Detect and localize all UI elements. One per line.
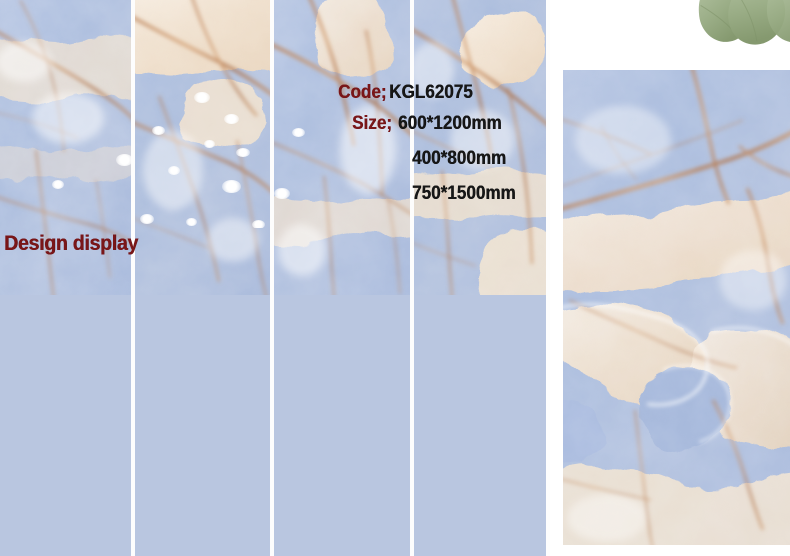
product-information-block: Code; KGL62075 Size; 600*1200mm 400*800m… <box>338 82 553 218</box>
panel-divider-1 <box>131 0 135 556</box>
product-row-size-3: 750*1500mm <box>412 183 553 205</box>
heading-design-display: Design display <box>4 232 138 256</box>
panel-divider-2 <box>270 0 274 556</box>
eucalyptus-leaves-decoration <box>680 0 790 58</box>
size-label: Size; <box>352 113 393 135</box>
size-value-1: 600*1200mm <box>398 113 502 135</box>
product-row-size: Size; 600*1200mm <box>352 113 553 135</box>
code-label: Code; <box>338 82 385 104</box>
right-tile-texture <box>563 70 790 545</box>
product-info-page: Real shooting effect Product information… <box>0 0 790 556</box>
size-value-3: 750*1500mm <box>412 183 516 205</box>
design-panel-1 <box>0 0 133 556</box>
code-value: KGL62075 <box>389 82 473 104</box>
design-panel-2 <box>133 0 272 556</box>
product-row-code: Code; KGL62075 <box>338 82 553 104</box>
tile-closeup-right <box>563 70 790 545</box>
product-row-size-2: 400*800mm <box>412 148 553 170</box>
size-value-2: 400*800mm <box>412 148 506 170</box>
